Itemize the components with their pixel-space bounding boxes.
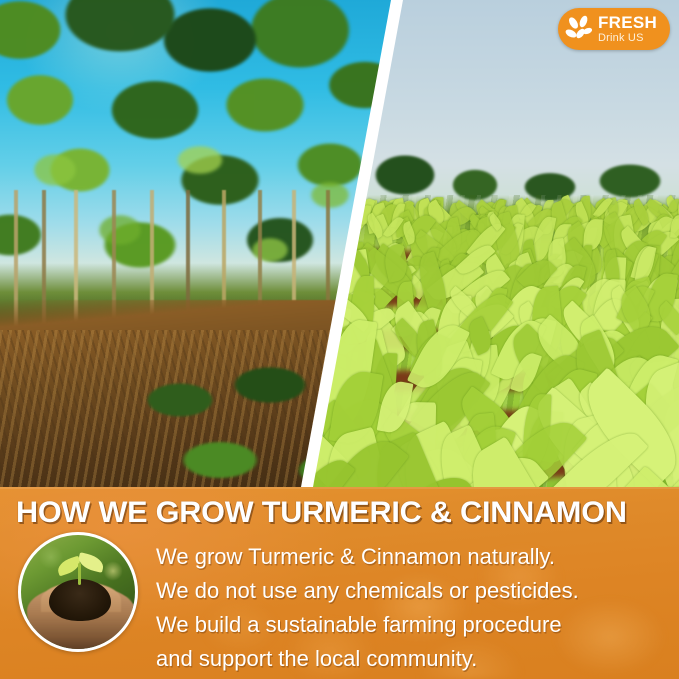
flower-leaf-icon	[564, 14, 594, 44]
brand-logo[interactable]: FRESH Drink US	[558, 8, 670, 50]
banner-top-divider	[0, 487, 679, 489]
logo-brand-name: FRESH	[598, 14, 657, 31]
page-title: HOW WE GROW TURMERIC & CINNAMON	[16, 498, 679, 528]
photo-collage: FRESH Drink US	[0, 0, 679, 487]
seedling-stem	[78, 563, 81, 585]
body-line: and support the local community.	[156, 642, 668, 676]
logo-wordmark: FRESH Drink US	[598, 14, 657, 44]
banner-body-text: We grow Turmeric & Cinnamon naturally. W…	[156, 540, 668, 676]
body-line: We grow Turmeric & Cinnamon naturally.	[156, 540, 668, 574]
hands-holding-seedling-photo	[18, 532, 138, 652]
product-infographic: FRESH Drink US HOW WE GROW TURMERIC & CI…	[0, 0, 679, 679]
soil-mound-layer	[49, 579, 111, 621]
body-line: We build a sustainable farming procedure	[156, 608, 668, 642]
logo-tagline: Drink US	[598, 33, 657, 44]
body-line: We do not use any chemicals or pesticide…	[156, 574, 668, 608]
